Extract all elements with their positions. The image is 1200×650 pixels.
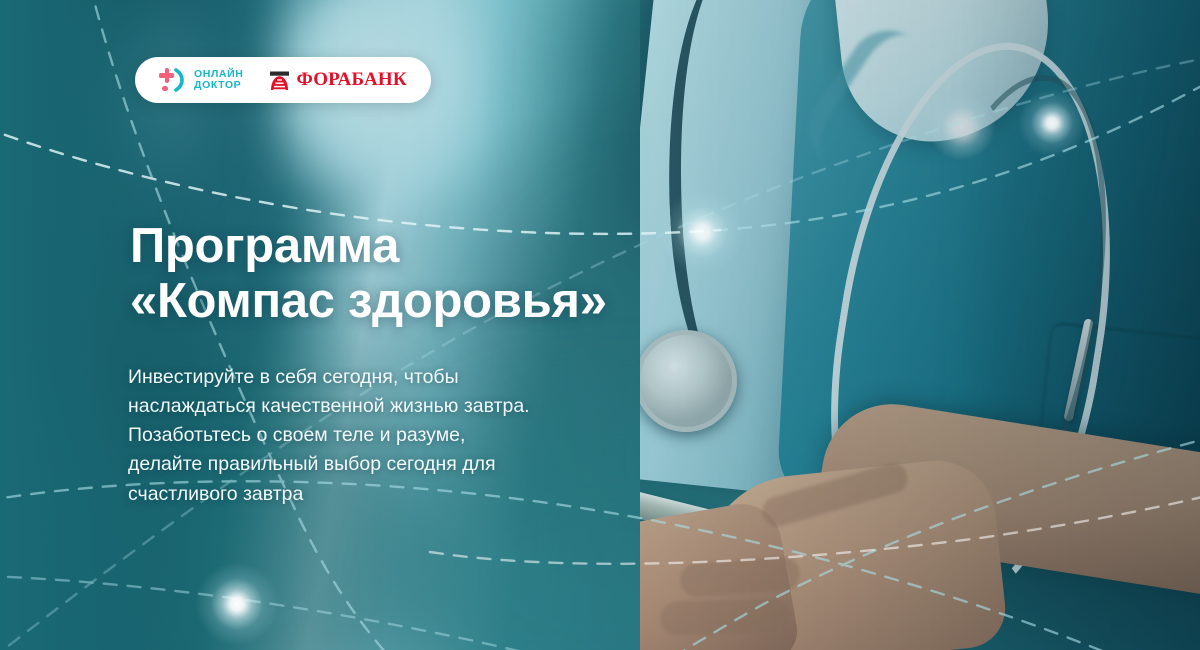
headline-line-2: «Компас здоровья» [130, 274, 770, 329]
subtext-line-5: счастливого завтра [128, 480, 628, 509]
cross-and-arc-icon [159, 67, 186, 93]
logo-online-doctor-text: ОНЛАЙН ДОКТОР [194, 69, 243, 90]
arc-icon [174, 68, 186, 92]
health-program-banner: ОНЛАЙН ДОКТОР ФОРАБАНК Программа «Компас… [0, 0, 1200, 650]
logo-forabank-text: ФОРАБАНК [296, 69, 406, 91]
headline-line-1: Программа [130, 219, 770, 274]
page-title: Программа «Компас здоровья» [130, 219, 770, 329]
subtext-line-4: делайте правильный выбор сегодня для [128, 450, 628, 479]
logo-online-doctor[interactable]: ОНЛАЙН ДОКТОР [159, 67, 243, 93]
subtext-line-1: Инвестируйте в себя сегодня, чтобы [128, 363, 628, 392]
logo-od-line2: ДОКТОР [194, 80, 243, 91]
glow-node-lower-left [195, 562, 279, 646]
description-text: Инвестируйте в себя сегодня, чтобы насла… [128, 363, 628, 509]
logo-forabank[interactable]: ФОРАБАНК [269, 69, 406, 91]
subtext-line-3: Позаботьтесь о своем теле и разуме, [128, 421, 628, 450]
logo-pill[interactable]: ОНЛАЙН ДОКТОР ФОРАБАНК [135, 57, 431, 103]
subtext-line-2: наслаждаться качественной жизнью завтра. [128, 392, 628, 421]
glow-node-stethoscope [1018, 89, 1086, 157]
red-dome-icon [269, 70, 290, 91]
